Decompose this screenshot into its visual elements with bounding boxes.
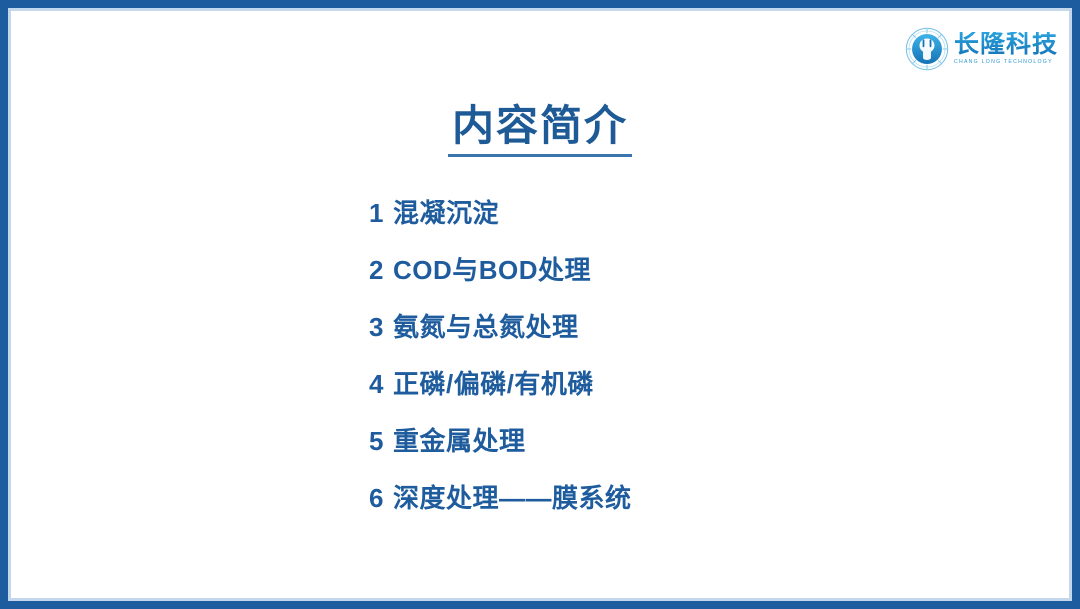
logo-wordmark: 长隆科技 CHANG LONG TECHNOLOGY [954, 32, 1058, 65]
list-item-label: 混凝沉淀 [393, 193, 499, 230]
list-item[interactable]: 6 深度处理——膜系统 [369, 478, 989, 535]
list-item-label: 正磷/偏磷/有机磷 [393, 364, 594, 401]
list-item[interactable]: 4 正磷/偏磷/有机磷 [369, 364, 989, 421]
list-item-label: 深度处理——膜系统 [393, 478, 632, 515]
list-item[interactable]: 5 重金属处理 [369, 421, 989, 478]
circular-gear-wrench-emblem-icon [905, 27, 949, 71]
list-item[interactable]: 3 氨氮与总氮处理 [369, 307, 989, 364]
agenda-list: 1 混凝沉淀 2 COD与BOD处理 3 氨氮与总氮处理 4 正磷/偏磷/有机磷… [369, 193, 989, 535]
list-item[interactable]: 1 混凝沉淀 [369, 193, 989, 250]
page-title-text: 内容简介 [448, 103, 632, 157]
list-item-number: 1 [369, 198, 384, 229]
list-item-number: 3 [369, 312, 384, 343]
logo-name-cn: 长隆科技 [954, 32, 1058, 57]
list-item[interactable]: 2 COD与BOD处理 [369, 250, 989, 307]
list-item-number: 2 [369, 255, 384, 286]
list-item-number: 5 [369, 426, 384, 457]
logo-name-en: CHANG LONG TECHNOLOGY [954, 60, 1058, 65]
list-item-label: 氨氮与总氮处理 [393, 307, 579, 344]
list-item-number: 4 [369, 369, 384, 400]
slide-canvas: 长隆科技 CHANG LONG TECHNOLOGY 内容简介 1 混凝沉淀 2… [0, 0, 1080, 609]
list-item-label: COD与BOD处理 [393, 250, 591, 287]
company-logo: 长隆科技 CHANG LONG TECHNOLOGY [905, 27, 1058, 71]
list-item-number: 6 [369, 483, 384, 514]
page-title: 内容简介 [0, 103, 1080, 157]
list-item-label: 重金属处理 [393, 421, 526, 458]
